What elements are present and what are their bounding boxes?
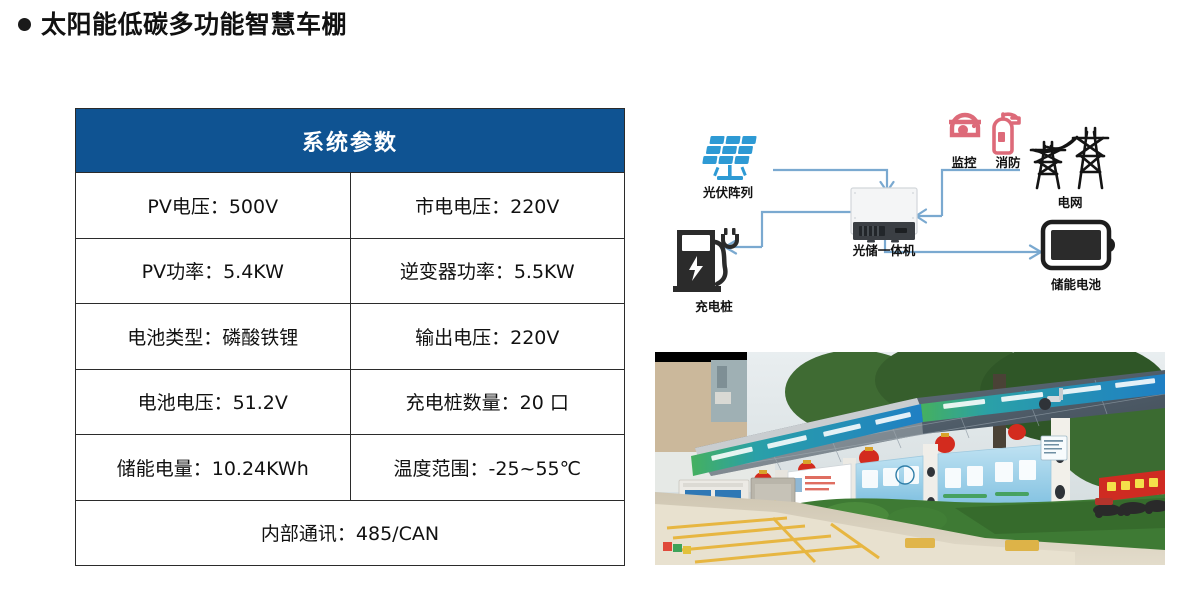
ev-charger-icon [673,228,737,292]
table-header-title: 系统参数 [76,109,625,173]
table-row: PV电压：500V 市电电压：220V [76,173,625,239]
table-row: 电池电压：51.2V 充电桩数量：20 口 [76,369,625,435]
diagram-label-fire: 消防 [987,156,1029,170]
param-cell-pv-voltage: PV电压：500V [76,173,351,239]
param-cell-output-voltage: 输出电压：220V [350,304,625,370]
param-cell-battery-type: 电池类型：磷酸铁锂 [76,304,351,370]
flow-pv-to-inverter [773,170,887,189]
param-cell-charger-count: 充电桩数量：20 口 [350,369,625,435]
table-row: 内部通讯：485/CAN [76,500,625,565]
table-row: PV功率：5.4KW 逆变器功率：5.5KW [76,238,625,304]
diagram-label-battery: 储能电池 [1045,278,1107,292]
flow-inverter-to-charger [762,212,851,247]
carport-photo [655,352,1165,565]
param-cell-internal-comms: 内部通讯：485/CAN [76,500,625,565]
system-flow-diagram: 光伏阵列 监控 消防 电网 光储一体机 充电桩 储能电池 [655,104,1165,344]
diagram-label-pv-array: 光伏阵列 [689,186,767,200]
battery-icon [1043,222,1115,268]
cctv-camera-icon [949,115,981,135]
param-cell-inverter-power: 逆变器功率：5.5KW [350,238,625,304]
param-cell-temp-range: 温度范围：-25~55℃ [350,435,625,501]
table-row: 电池类型：磷酸铁锂 输出电压：220V [76,304,625,370]
fire-extinguisher-icon [994,114,1019,153]
table-header-row: 系统参数 [76,109,625,173]
bullet-dot-icon [18,18,31,31]
system-parameters-table: 系统参数 PV电压：500V 市电电压：220V PV功率：5.4KW 逆变器功… [75,108,625,566]
page-title: 太阳能低碳多功能智慧车棚 [18,12,347,37]
diagram-label-charging-pile: 充电桩 [683,300,745,314]
carport-photo-image [655,352,1165,565]
table-row: 储能电量：10.24KWh 温度范围：-25~55℃ [76,435,625,501]
diagram-label-inverter: 光储一体机 [841,244,927,258]
param-cell-battery-voltage: 电池电压：51.2V [76,369,351,435]
page-title-text: 太阳能低碳多功能智慧车棚 [41,12,347,37]
inverter-cabinet-icon [851,188,917,243]
param-cell-grid-voltage: 市电电压：220V [350,173,625,239]
diagram-label-surveillance: 监控 [943,156,985,170]
transmission-tower-icon [1031,128,1108,188]
flow-grid-to-inverter [942,170,1020,216]
param-cell-pv-power: PV功率：5.4KW [76,238,351,304]
solar-panel-icon [702,136,756,180]
diagram-label-power-grid: 电网 [1047,196,1093,210]
param-cell-storage-capacity: 储能电量：10.24KWh [76,435,351,501]
